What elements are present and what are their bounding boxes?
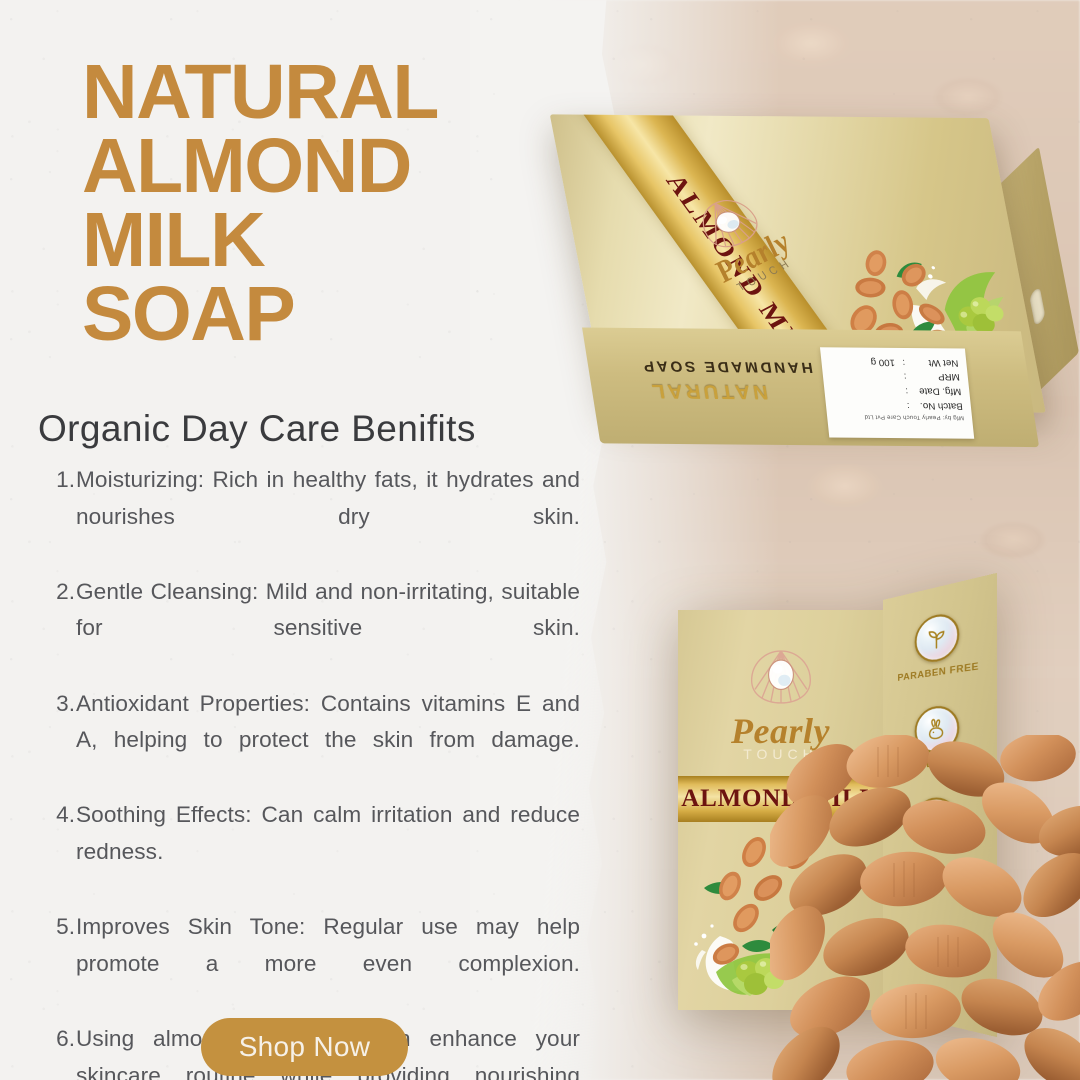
list-item-number: 3. xyxy=(50,686,76,723)
list-item-number: 1. xyxy=(50,462,76,499)
box-top-side-face: HANDMADE SOAP NATURAL Mfg by: Pearly Tou… xyxy=(582,327,1039,447)
page-title: NATURAL ALMOND MILK SOAP xyxy=(82,56,552,352)
list-item-number: 2. xyxy=(50,574,76,611)
pearl-shell-icon xyxy=(746,646,816,708)
badge-label: PARABEN FREE xyxy=(883,658,997,686)
section-subtitle: Organic Day Care Benifits xyxy=(38,408,578,450)
badge-disc xyxy=(915,610,960,665)
list-item: 3. Antioxidant Properties: Contains vita… xyxy=(50,686,580,796)
spec-row: Net Wt : 100 g xyxy=(829,353,959,369)
spec-sep: : xyxy=(897,383,909,398)
spec-key: MRP xyxy=(906,368,961,383)
spec-value: 100 g xyxy=(829,353,896,368)
spec-key: Mfg. Date xyxy=(907,383,962,398)
list-item-text: Antioxidant Properties: Contains vitamin… xyxy=(76,686,580,796)
spec-sep: : xyxy=(894,354,906,369)
box-top-side-text-natural: NATURAL xyxy=(647,379,769,403)
list-item-number: 6. xyxy=(50,1021,76,1058)
list-item: 1. Moisturizing: Rich in healthy fats, i… xyxy=(50,462,580,572)
list-item: 4. Soothing Effects: Can calm irritation… xyxy=(50,797,580,907)
list-item-text: Improves Skin Tone: Regular use may help… xyxy=(76,909,580,1019)
badge-paraben-free: PARABEN FREE xyxy=(883,602,997,686)
list-item-text: Moisturizing: Rich in healthy fats, it h… xyxy=(76,462,580,572)
spec-sep: : xyxy=(899,397,911,412)
spec-value xyxy=(830,368,897,383)
spec-key: Net Wt xyxy=(904,354,959,369)
list-item-text: Gentle Cleansing: Mild and non-irritatin… xyxy=(76,574,580,684)
leaf-sprout-icon xyxy=(924,623,948,653)
title-line-2: ALMOND xyxy=(82,130,552,204)
foreground-almond-pile xyxy=(770,735,1080,1080)
spec-row: Batch No. : xyxy=(833,396,963,412)
spec-fineprint: Mfg by: Pearly Touch Care Pvt Ltd xyxy=(835,411,965,421)
list-item-number: 5. xyxy=(50,909,76,946)
shop-now-button[interactable]: Shop Now xyxy=(201,1018,408,1076)
benefits-list: 1. Moisturizing: Rich in healthy fats, i… xyxy=(50,462,580,1080)
list-item: 2. Gentle Cleansing: Mild and non-irrita… xyxy=(50,574,580,684)
title-line-1: NATURAL xyxy=(82,56,552,130)
spec-value xyxy=(832,382,899,397)
list-item: 5. Improves Skin Tone: Regular use may h… xyxy=(50,909,580,1019)
spec-row: MRP : xyxy=(830,368,960,384)
box-top-spec-label: Mfg by: Pearly Touch Care Pvt Ltd Batch … xyxy=(820,347,974,439)
list-item-number: 4. xyxy=(50,797,76,834)
title-line-4: SOAP xyxy=(82,278,552,352)
spec-row: Mfg. Date : xyxy=(832,382,962,398)
box-hang-slot xyxy=(1029,286,1045,327)
list-item-text: Soothing Effects: Can calm irritation an… xyxy=(76,797,580,907)
spec-sep: : xyxy=(896,368,908,383)
box-top-side-text-handmade: HANDMADE SOAP xyxy=(640,357,814,375)
spec-key: Batch No. xyxy=(909,397,964,412)
title-line-3: MILK xyxy=(82,204,552,278)
poster-canvas: NATURAL ALMOND MILK SOAP Organic Day Car… xyxy=(0,0,1080,1080)
product-box-top: ALMOND MILK Pearly TOUCH xyxy=(535,56,1080,574)
spec-value xyxy=(833,396,900,411)
